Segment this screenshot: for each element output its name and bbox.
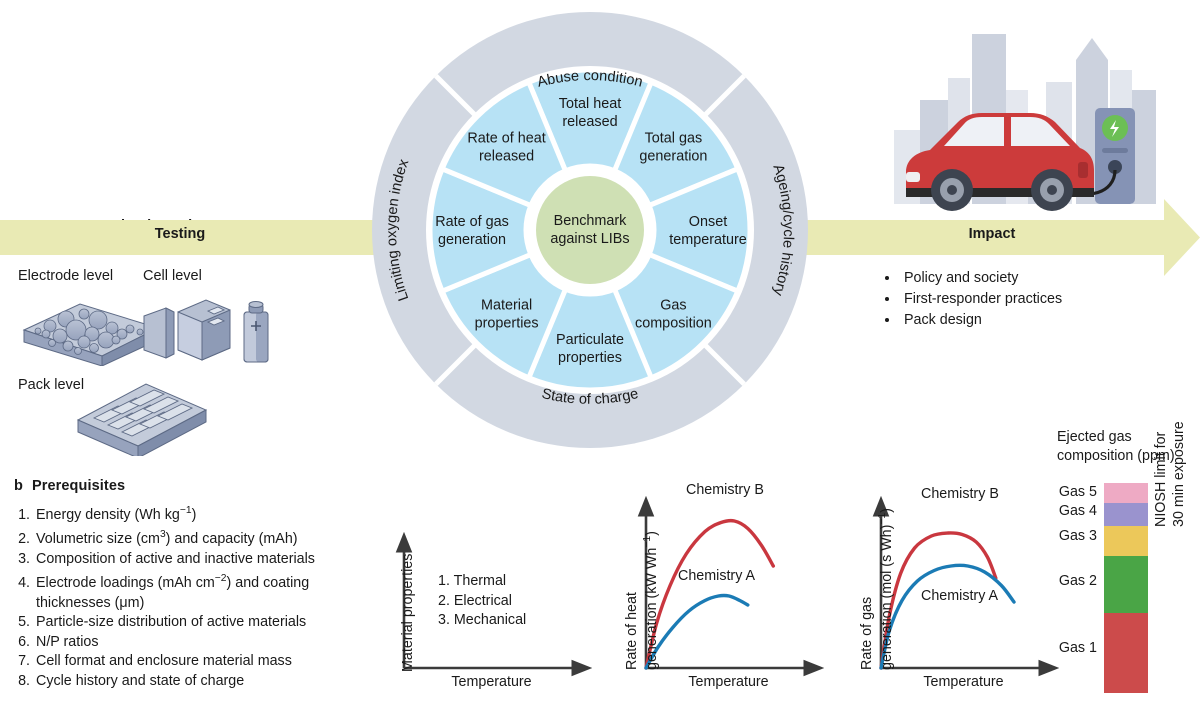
list-item: Cycle history and state of charge: [34, 672, 380, 692]
list-item: Energy density (Wh kg−1): [34, 501, 380, 525]
wheel-segment-label: generation: [438, 232, 506, 248]
figure-canvas: aNext-generation batteries Testing Elect…: [0, 0, 1200, 705]
wheel-segment-label: generation: [639, 149, 707, 165]
niosh-line1: NIOSH limit for: [1152, 432, 1170, 527]
y-axis-label-line1: Rate of gas: [859, 597, 875, 670]
x-axis-label: Temperature: [881, 674, 1046, 690]
series-chemistry-b-heat: [646, 521, 773, 668]
wheel-segment-label: released: [562, 114, 617, 130]
list-item: N/P ratios: [34, 633, 380, 653]
gas-label-gas-5: Gas 5: [1053, 484, 1097, 500]
list-item: Composition of active and inactive mater…: [34, 550, 380, 570]
list-item: Particle-size distribution of active mat…: [34, 613, 380, 633]
series-label-chemistry-a: Chemistry A: [678, 568, 755, 584]
core-label-line1: Benchmark: [554, 213, 628, 229]
testing-stage-label: Testing: [0, 226, 360, 242]
wheel-segment-label: Rate of gas: [435, 214, 509, 230]
wheel-segment-label: properties: [558, 350, 622, 366]
x-axis-label: Temperature: [646, 674, 811, 690]
wheel-segment-label: Total gas: [645, 131, 703, 147]
core-label-line2: against LIBs: [550, 231, 629, 247]
gas-segment-gas-4: [1104, 503, 1148, 526]
gas-segment-gas-1: [1104, 613, 1148, 693]
wheel-core: [532, 172, 648, 288]
wheel-segment-label: Material: [481, 297, 532, 313]
series-label-chemistry-b: Chemistry B: [686, 482, 764, 498]
annotation-item: 1. Thermal: [438, 572, 526, 592]
benchmark-wheel-diagram: Abuse condition Ageing/cycle history Sta…: [366, 6, 814, 454]
annotation-item: 3. Mechanical: [438, 611, 526, 631]
wheel-segment-label: released: [479, 149, 534, 165]
chart-material-properties: 1. Thermal 2. Electrical 3. Mechanical T…: [386, 500, 606, 695]
ev-charger-icon: [1095, 108, 1135, 204]
gas-label-gas-3: Gas 3: [1053, 528, 1097, 544]
impact-items-list: Policy and society First-responder pract…: [880, 268, 1170, 331]
wheel-segment-label: Gas: [660, 297, 686, 313]
pouch-prismatic-cylindrical-cell-icon: [140, 288, 285, 370]
list-item: Cell format and enclosure material mass: [34, 652, 380, 672]
annotation-item: 2. Electrical: [438, 592, 526, 612]
list-item: Electrode loadings (mAh cm−2) and coatin…: [34, 569, 380, 613]
panel-b-heading: bPrerequisites: [14, 478, 125, 494]
wheel-segment-label: temperature: [669, 232, 747, 248]
x-axis-label: Temperature: [404, 674, 579, 690]
y-axis-label-line2: generation (mol (s Wh)−1): [877, 508, 895, 670]
panel-b-letter: b: [14, 478, 23, 494]
gas-segment-gas-3: [1104, 526, 1148, 556]
panel-b-title: Prerequisites: [32, 478, 125, 494]
y-axis-label-line1: Rate of heat: [624, 592, 640, 670]
list-item: First-responder practices: [900, 289, 1170, 310]
cell-level-label: Cell level: [143, 268, 202, 284]
prerequisites-list: Energy density (Wh kg−1) Volumetric size…: [10, 501, 380, 692]
gas-label-gas-1: Gas 1: [1053, 640, 1097, 656]
ejected-gas-stacked-bar: [1104, 483, 1148, 693]
gas-segment-gas-5: [1104, 483, 1148, 503]
wheel-segment-label: Onset: [689, 214, 727, 230]
material-properties-annotations: 1. Thermal 2. Electrical 3. Mechanical: [438, 572, 526, 631]
wheel-segment-label: Particulate: [556, 332, 624, 348]
series-label-chemistry-a: Chemistry A: [921, 588, 998, 604]
wheel-segment-label: Rate of heat: [467, 131, 545, 147]
gas-label-gas-2: Gas 2: [1053, 573, 1097, 589]
wheel-segment-label: composition: [635, 315, 712, 331]
list-item: Pack design: [900, 310, 1170, 331]
series-chemistry-a-gas: [881, 565, 1014, 668]
wheel-segment-label: Total heat: [559, 96, 621, 112]
niosh-line2: 30 min exposure: [1170, 421, 1188, 527]
list-item: Volumetric size (cm3) and capacity (mAh): [34, 525, 380, 549]
gas-segment-gas-2: [1104, 556, 1148, 613]
series-label-chemistry-b: Chemistry B: [921, 486, 999, 502]
electrode-level-label: Electrode level: [18, 268, 113, 284]
y-axis-label-line2: generation (kW Wh−1): [642, 531, 660, 670]
y-axis-label: Material properties: [400, 554, 416, 672]
gas-label-gas-4: Gas 4: [1053, 503, 1097, 519]
impact-stage-label: Impact: [862, 226, 1122, 242]
chart-rate-of-heat-generation: Chemistry B Chemistry A Temperature Rate…: [610, 480, 830, 695]
ev-charging-city-icon: [880, 12, 1170, 222]
battery-pack-icon: [72, 372, 212, 456]
wheel-segment-label: properties: [475, 315, 539, 331]
chart-rate-of-gas-generation: Chemistry B Chemistry A Temperature Rate…: [845, 480, 1065, 695]
